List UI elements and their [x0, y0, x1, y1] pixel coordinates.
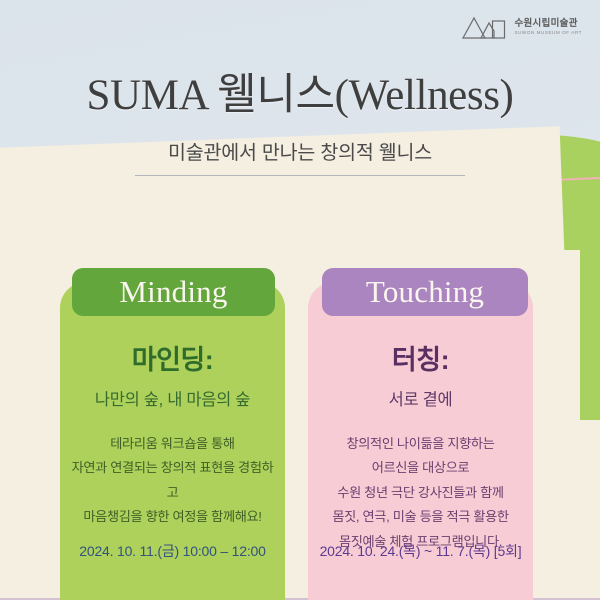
page-subtitle: 미술관에서 만나는 창의적 웰니스 — [0, 136, 600, 165]
page-title: SUMA 웰니스(Wellness) — [0, 72, 600, 120]
card-touching[interactable]: 터칭: 서로 곁에 창의적인 나이듦을 지향하는어르신을 대상으로수원 청년 극… — [308, 282, 533, 600]
logo-name-ko: 수원시립미술관 — [514, 19, 582, 29]
tab-touching[interactable]: Touching — [322, 268, 528, 316]
body-line: 자연과 연결되는 창의적 표현을 경험하고 — [70, 456, 275, 505]
card-touching-date: 2024. 10. 24.(목) ~ 11. 7.(목) [5회] — [308, 541, 533, 561]
tab-touching-label: Touching — [366, 274, 484, 310]
header-block: SUMA 웰니스(Wellness) 미술관에서 만나는 창의적 웰니스 — [0, 72, 600, 176]
body-line: 창의적인 나이듦을 지향하는 — [318, 432, 523, 456]
title-divider — [135, 175, 465, 176]
card-minding-title: 마인딩: — [60, 338, 285, 377]
body-line: 마음챙김을 향한 여정을 함께해요! — [70, 505, 275, 529]
museum-mountain-icon — [461, 12, 507, 42]
body-line: 테라리움 워크숍을 통해 — [70, 432, 275, 456]
logo-text-block: 수원시립미술관 SUWON MUSEUM OF ART — [514, 19, 582, 36]
poster-canvas: 수원시립미술관 SUWON MUSEUM OF ART SUMA 웰니스(Wel… — [0, 0, 600, 600]
museum-logo: 수원시립미술관 SUWON MUSEUM OF ART — [461, 12, 582, 42]
card-touching-title: 터칭: — [308, 338, 533, 377]
logo-name-en: SUWON MUSEUM OF ART — [514, 31, 582, 36]
tab-minding[interactable]: Minding — [72, 268, 275, 316]
body-line: 어르신을 대상으로 — [318, 456, 523, 480]
body-line: 수원 청년 극단 강사진들과 함께 — [318, 481, 523, 505]
card-minding-subtitle: 나만의 숲, 내 마음의 숲 — [60, 386, 285, 410]
card-minding-date: 2024. 10. 11.(금) 10:00 – 12:00 — [60, 541, 285, 561]
tab-minding-label: Minding — [119, 274, 227, 310]
card-minding-body: 테라리움 워크숍을 통해자연과 연결되는 창의적 표현을 경험하고마음챙김을 향… — [60, 432, 285, 530]
body-line: 몸짓, 연극, 미술 등을 적극 활용한 — [318, 505, 523, 529]
card-touching-subtitle: 서로 곁에 — [308, 386, 533, 410]
card-touching-body: 창의적인 나이듦을 지향하는어르신을 대상으로수원 청년 극단 강사진들과 함께… — [308, 432, 533, 554]
card-minding[interactable]: 마인딩: 나만의 숲, 내 마음의 숲 테라리움 워크숍을 통해자연과 연결되는… — [60, 282, 285, 600]
